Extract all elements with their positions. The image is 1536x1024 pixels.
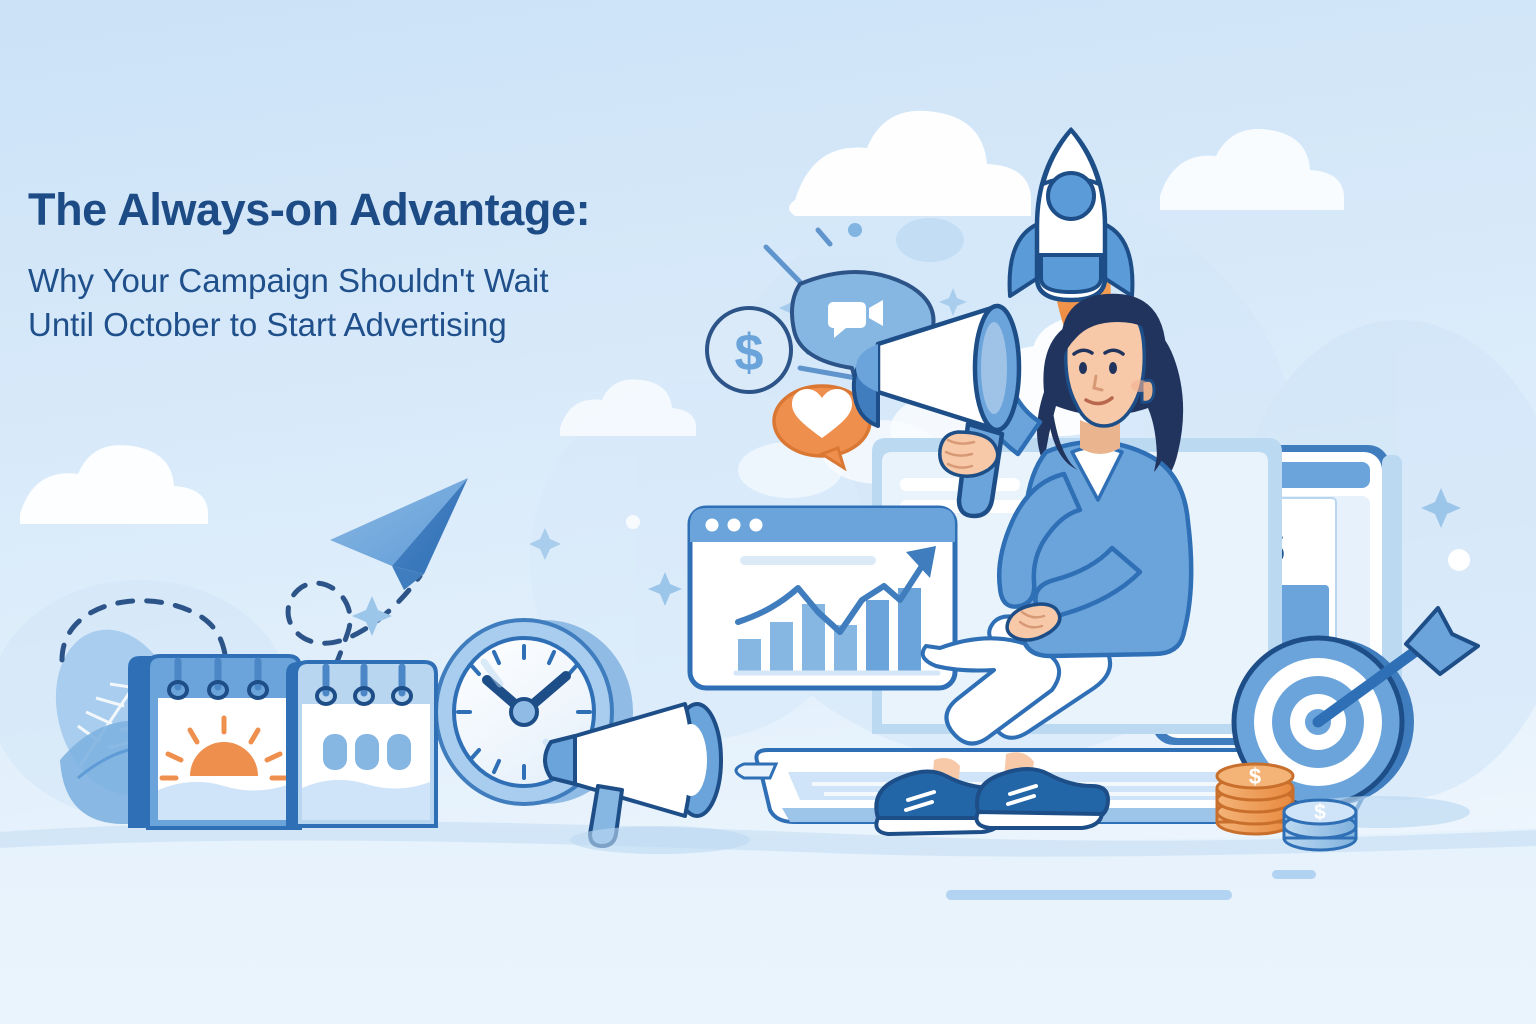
money-badge-symbol: $ — [735, 324, 764, 382]
subtitle-line-1: Why Your Campaign Shouldn't Wait — [28, 259, 728, 303]
page-title: The Always-on Advantage: — [28, 186, 728, 233]
chart-bar — [738, 639, 761, 672]
coin-symbol-gold: $ — [1249, 764, 1261, 789]
chart-bar — [770, 622, 793, 672]
coin-stack-blue-icon: $ — [1284, 800, 1356, 850]
headline-block: The Always-on Advantage: Why Your Campai… — [28, 186, 728, 346]
calendar-sun-icon — [128, 656, 300, 828]
window-dots — [706, 519, 763, 532]
growth-chart-window — [690, 508, 955, 688]
coin-stack-gold-icon: $ — [1217, 764, 1293, 834]
calendar-days-icon — [286, 662, 436, 826]
calendar-day-blocks — [323, 734, 411, 770]
hand-grip — [940, 432, 998, 476]
subtitle-line-2: Until October to Start Advertising — [28, 303, 728, 347]
floor-marks — [946, 870, 1316, 900]
chart-bar — [866, 600, 889, 672]
illustration-canvas: ADS — [0, 0, 1536, 1024]
coin-symbol-blue: $ — [1314, 801, 1326, 824]
chart-title-placeholder — [740, 556, 876, 565]
illustration-main-layer: ADS — [0, 0, 1536, 1024]
